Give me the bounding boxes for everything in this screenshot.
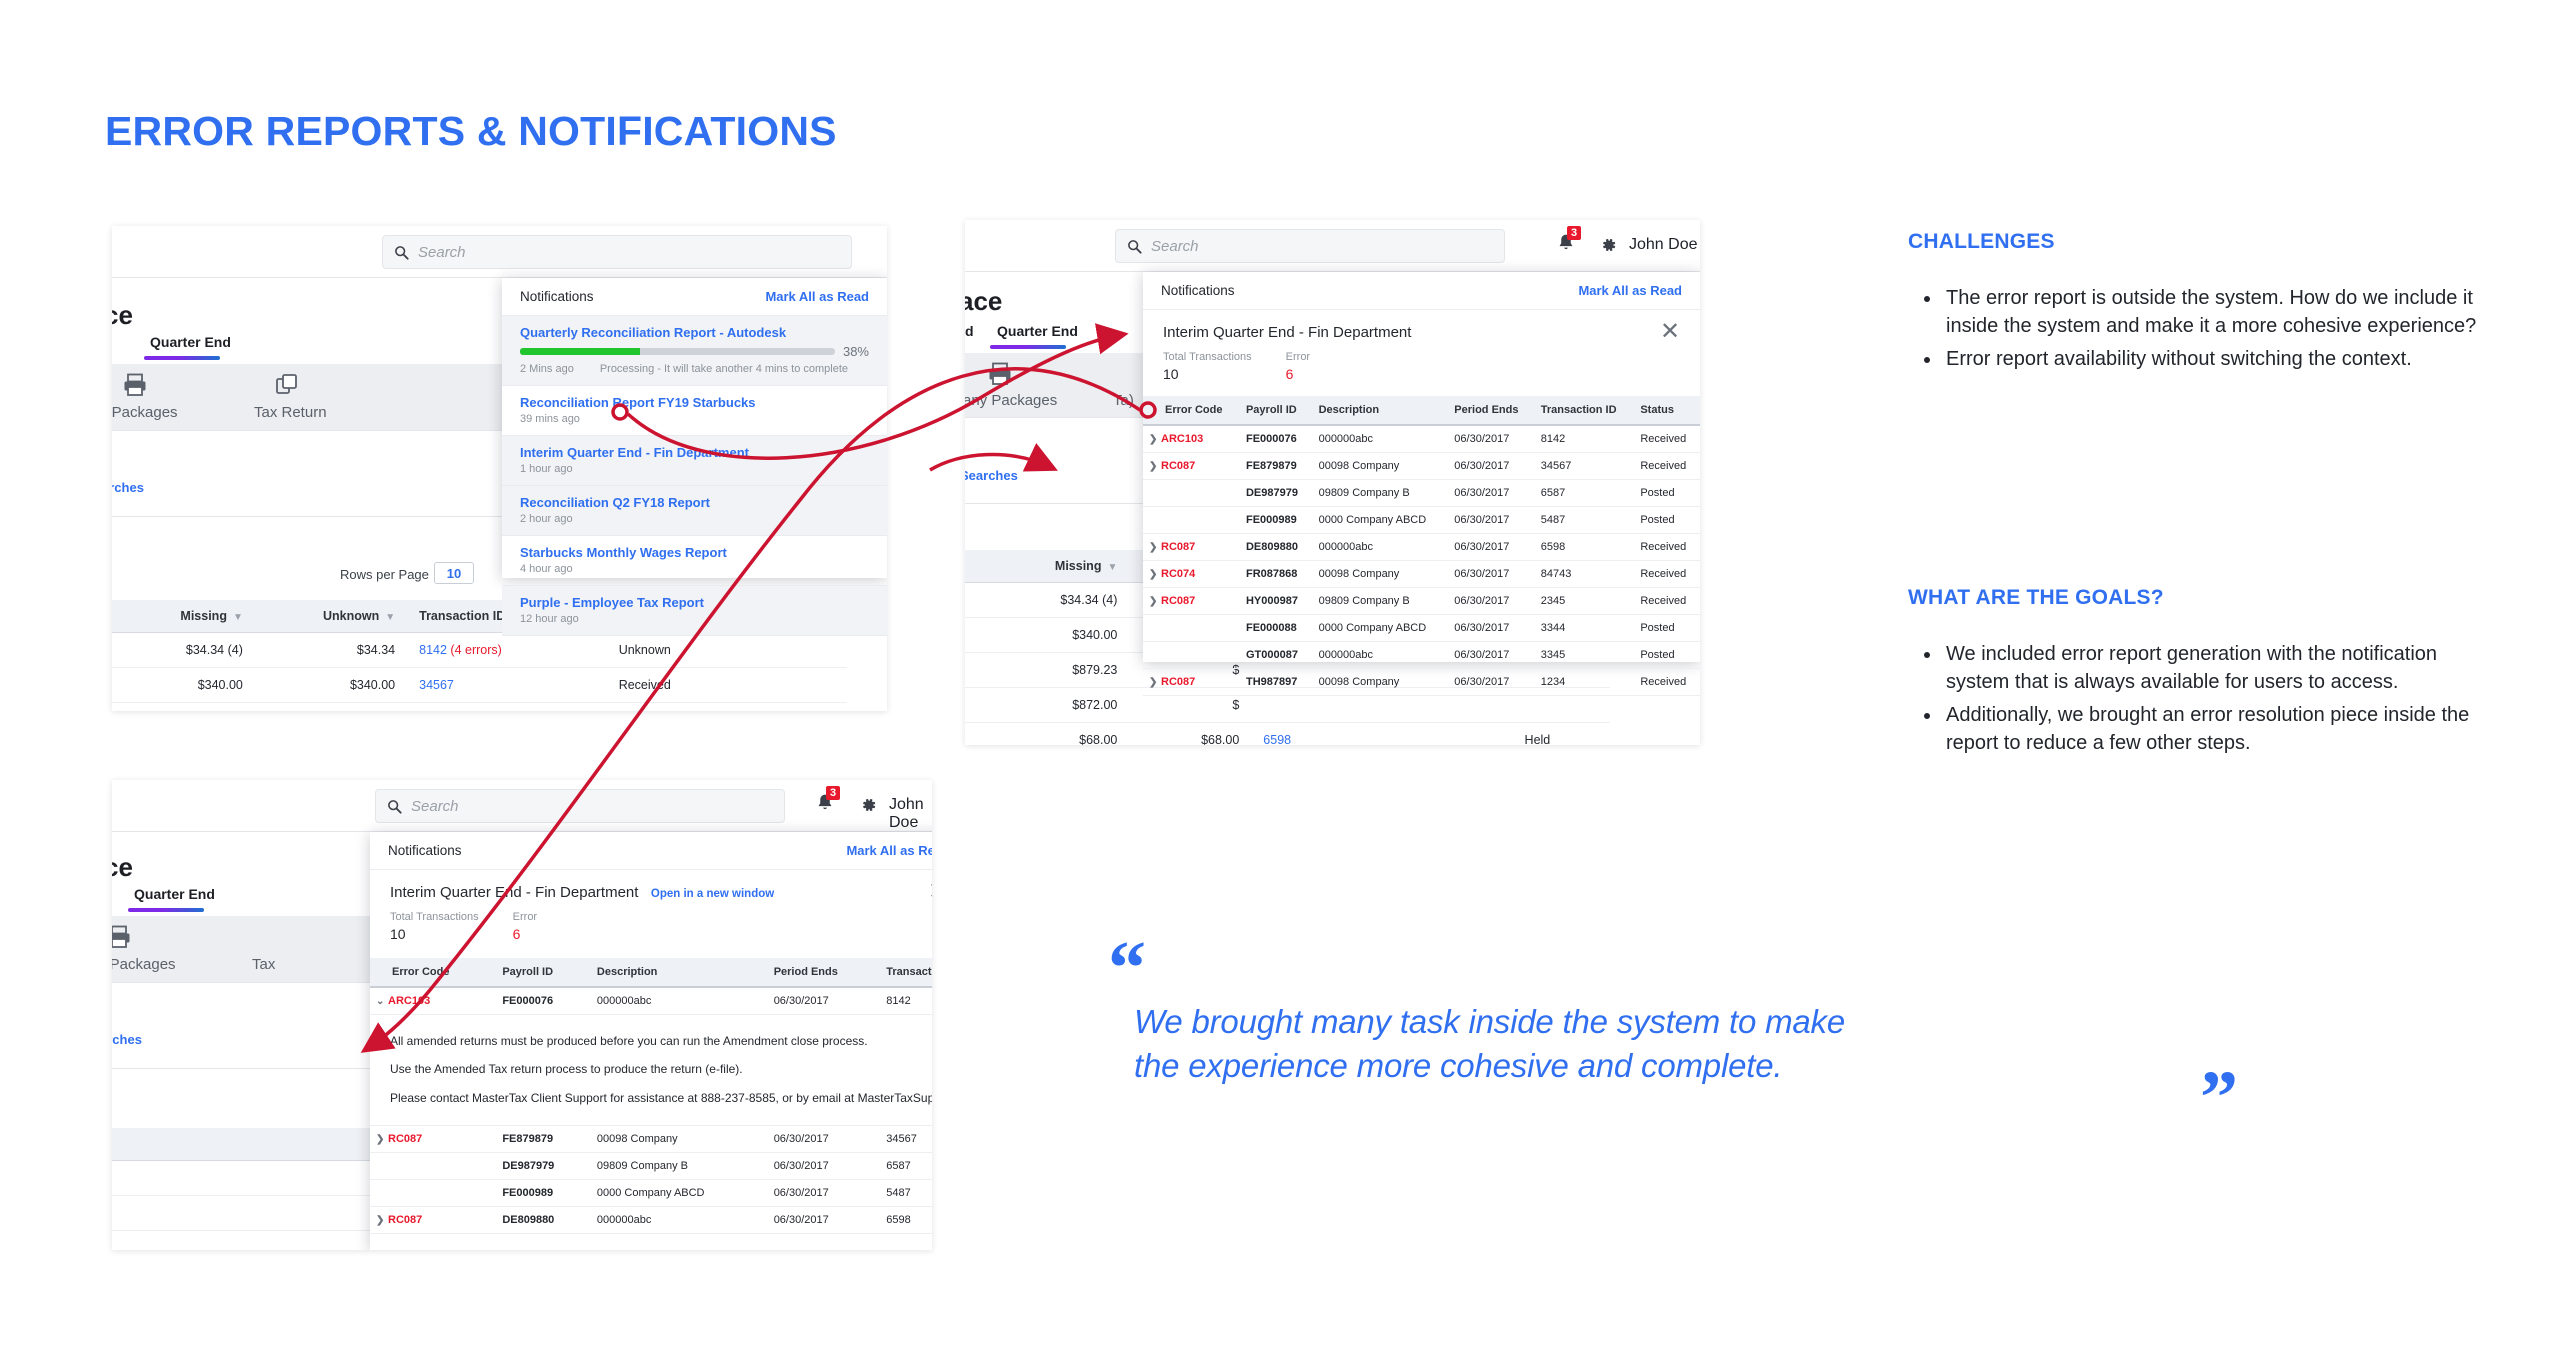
cell-payroll-id: FE000076 <box>1240 425 1313 453</box>
cell-payroll-id: DE987979 <box>496 1153 591 1180</box>
table-row[interactable]: ❯RC074 FR087868 00098 Company 06/30/2017… <box>1143 561 1700 588</box>
cell-error-code <box>1143 615 1240 642</box>
notification-item[interactable]: Starbucks Monthly Wages Report 4 hour ag… <box>502 536 887 586</box>
cell-status: Received <box>1634 534 1700 561</box>
table-row[interactable]: ❯ARC103 FE000076 000000abc 06/30/2017 81… <box>1143 425 1700 453</box>
stat-error: Error 6 <box>1286 351 1310 382</box>
tab-quarter-end[interactable]: Quarter End <box>150 334 231 350</box>
stat-value: 6 <box>1286 366 1310 382</box>
cell-payroll-id: FE879879 <box>496 1126 591 1153</box>
col-unknown[interactable]: Unknown▼ <box>255 600 407 633</box>
cell-payroll-id: FE000989 <box>1240 507 1313 534</box>
col-description: Description <box>591 958 768 987</box>
screenshot-error-report-panel: Search 3 John Doe ace d Quarter End <box>965 220 1700 745</box>
cell-period-ends: 06/30/2017 <box>768 1153 881 1180</box>
cell-error-code <box>1143 642 1240 669</box>
cell-status: Received <box>1634 669 1700 696</box>
cell-missing: $340.00 <box>965 618 1129 653</box>
table-row[interactable]: FE000088 0000 Company ABCD 06/30/2017 33… <box>1143 615 1700 642</box>
cell-transaction-id: 8142 <box>880 987 932 1015</box>
cell-error-code[interactable]: ⌄ARC103 <box>370 987 496 1015</box>
col-error-code: Error Code <box>1143 396 1240 425</box>
cell-status: Received <box>1634 561 1700 588</box>
cell-transaction-id: 34567 <box>880 1126 932 1153</box>
table-row[interactable]: $340.00 $340.00 34567 Received <box>112 668 847 703</box>
notification-title[interactable]: Reconciliation Report FY19 Starbucks <box>520 395 869 410</box>
progress-fill <box>520 348 640 355</box>
table-row[interactable]: ❯RC087 TH987897 00098 Company 06/30/2017… <box>1143 669 1700 696</box>
table-row[interactable]: FE000989 0000 Company ABCD 06/30/2017 54… <box>370 1180 932 1207</box>
search-icon <box>387 799 402 814</box>
error-report-header: Interim Quarter End - Fin Department Ope… <box>370 870 932 942</box>
tile-label-tax-return[interactable]: Tax Return <box>254 404 327 421</box>
error-report-body: ❯ARC103 FE000076 000000abc 06/30/2017 81… <box>1143 425 1700 696</box>
cell-status: Posted <box>1634 642 1700 669</box>
cell-payroll-id: DE809880 <box>496 1207 591 1234</box>
tile-label-packages[interactable]: y Packages <box>112 404 178 421</box>
error-report-dropdown: Notifications Mark All as Read Interim Q… <box>1143 272 1700 662</box>
detail-line-3: Please contact MasterTax Client Support … <box>376 1090 932 1107</box>
chevron-right-icon[interactable]: ❯ <box>1149 542 1161 553</box>
printer-icon[interactable] <box>987 361 1013 387</box>
cell-description: 0000 Company ABCD <box>591 1180 768 1207</box>
cell-payroll-id: GT000087 <box>1240 642 1313 669</box>
col-missing[interactable]: Missing▼ <box>118 600 255 633</box>
cell-error-code[interactable]: ❯RC087 <box>1143 453 1240 480</box>
progress-percent: 38% <box>843 344 869 359</box>
cell-error-code[interactable]: ❯RC087 <box>1143 534 1240 561</box>
cell-description: 000000abc <box>1313 425 1449 453</box>
tab-active-underline <box>128 908 204 912</box>
notifications-dropdown: Notifications Mark All as Read Quarterly… <box>502 278 887 578</box>
table-row[interactable]: DE987979 09809 Company B 06/30/2017 6587… <box>1143 480 1700 507</box>
cell-missing: $34.34 (4) <box>965 583 1129 618</box>
stat-total-transactions: Total Transactions 10 <box>390 911 479 942</box>
rows-per-page-label: Rows per Page <box>340 567 429 582</box>
cell-description: 000000abc <box>1313 534 1449 561</box>
cell-description: 000000abc <box>1313 642 1449 669</box>
saved-searches-link[interactable]: arches <box>112 1032 142 1047</box>
cell-payroll-id: FR087868 <box>1240 561 1313 588</box>
challenges-heading: CHALLENGES <box>1908 230 2055 254</box>
notification-title[interactable]: Interim Quarter End - Fin Department <box>520 445 869 460</box>
cell-description: 09809 Company B <box>1313 480 1449 507</box>
table-row[interactable]: ❯RC087 FE879879 00098 Company 06/30/2017… <box>1143 453 1700 480</box>
cell-unknown: $34.34 <box>255 633 407 668</box>
error-report-table-expanded: Error Code Payroll ID Description Period… <box>370 958 932 1234</box>
col-period-ends: Period Ends <box>1448 396 1534 425</box>
notifications-dropdown-header: Notifications Mark All as Read <box>370 832 932 870</box>
quote-text: We brought many task inside the system t… <box>1134 1000 2314 1088</box>
notifications-title: Notifications <box>1161 283 1235 298</box>
cell-transaction-id: 6598 <box>1535 534 1635 561</box>
stat-value: 6 <box>513 926 537 942</box>
tab-quarter-end[interactable]: Quarter End <box>134 886 215 902</box>
notifications-title: Notifications <box>520 289 594 304</box>
quote-close-mark: ” <box>2200 1060 2238 1136</box>
col-status: Status <box>1634 396 1700 425</box>
notification-item[interactable]: Interim Quarter End - Fin Department 1 h… <box>502 436 887 486</box>
cell-transaction-id: 2345 <box>1535 588 1635 615</box>
cell-payroll-id: TH987897 <box>1240 669 1313 696</box>
cell-transaction-id: 5487 <box>880 1180 932 1207</box>
cell-transaction-id: 3344 <box>1535 615 1635 642</box>
list-item: Additionally, we brought an error resolu… <box>1942 701 2480 758</box>
cell-transaction-id: 84743 <box>1535 561 1635 588</box>
notification-title[interactable]: Quarterly Reconciliation Report - Autode… <box>520 325 869 340</box>
cell-error-code <box>1143 507 1240 534</box>
error-report-stats: Total Transactions 10 Error 6 <box>390 911 932 942</box>
cell-error-code[interactable]: ❯RC087 <box>370 1207 496 1234</box>
tab-active-underline <box>144 356 220 360</box>
chevron-right-icon[interactable]: ❯ <box>376 1134 388 1145</box>
cell-status: Received <box>607 668 847 703</box>
cell-period-ends: 06/30/2017 <box>1448 588 1534 615</box>
stat-label: Error <box>513 911 537 923</box>
cell-missing: $68.00 <box>965 723 1129 746</box>
notifications-title: Notifications <box>388 843 462 858</box>
close-icon[interactable]: ✕ <box>1660 322 1682 344</box>
mark-all-as-read-link[interactable]: Mark All as Read <box>1578 283 1682 298</box>
tab-quarter-end[interactable]: Quarter End <box>997 323 1078 339</box>
cell-error-code <box>370 1180 496 1207</box>
cell-payroll-id: HY000987 <box>1240 588 1313 615</box>
notification-time: 12 hour ago <box>520 613 869 625</box>
stat-value: 10 <box>1163 366 1252 382</box>
close-icon[interactable]: ✕ <box>928 882 932 904</box>
table-row[interactable]: ❯RC087 FE879879 00098 Company 06/30/2017… <box>370 1126 932 1153</box>
cell-period-ends: 06/30/2017 <box>1448 534 1534 561</box>
screenshot-error-report-expanded: Search 3 John Doe ce Quarter End <box>112 780 932 1250</box>
notification-time: 1 hour ago <box>520 463 869 475</box>
table-row[interactable]: 0 $68.00 $68.00 6598 Held <box>965 723 1610 746</box>
list-item: The error report is outside the system. … <box>1942 284 2480 341</box>
detail-line-1: All amended returns must be produced bef… <box>376 1033 932 1050</box>
search-placeholder: Search <box>1151 238 1199 255</box>
cell-unknown: $879.23 <box>255 703 407 712</box>
cell-period-ends: 06/30/2017 <box>768 1207 881 1234</box>
col-missing[interactable]: Missing▼ <box>965 550 1129 583</box>
cell-error-code <box>370 1153 496 1180</box>
printer-icon[interactable] <box>122 372 148 398</box>
table-row[interactable]: ❯RC087 DE809880 000000abc 06/30/2017 659… <box>1143 534 1700 561</box>
cell-status: Posted <box>1634 507 1700 534</box>
quote-open-mark: “ <box>1108 930 1146 1006</box>
cell-payroll-id: DE809880 <box>1240 534 1313 561</box>
cell-period-ends: 06/30/2017 <box>1448 425 1534 453</box>
notification-item[interactable]: Reconciliation Report FY19 Starbucks 39 … <box>502 386 887 436</box>
chevron-right-icon[interactable]: ❯ <box>1149 569 1161 580</box>
cell-period-ends: 06/30/2017 <box>1448 669 1534 696</box>
cell-error-code[interactable]: ❯RC074 <box>1143 561 1240 588</box>
cell-error-code <box>1143 480 1240 507</box>
cell-transaction-id: 6587 <box>1535 480 1635 507</box>
quote-line-1: We brought many task inside the system t… <box>1134 1003 1845 1040</box>
notification-title[interactable]: Purple - Employee Tax Report <box>520 595 869 610</box>
tile-label-tax-return[interactable]: Ta) <box>1113 392 1134 409</box>
search-input[interactable]: Search <box>382 235 852 269</box>
col-transaction-id: Transaction ID <box>880 958 932 987</box>
cell-missing: $340.00 <box>118 668 255 703</box>
list-item: Error report availability without switch… <box>1942 345 2480 373</box>
rows-per-page-select[interactable]: 10 <box>434 562 474 584</box>
error-report-header: Interim Quarter End - Fin Department ✕ T… <box>1143 310 1700 382</box>
cell-transaction-id[interactable]: 8142 (4 errors) <box>407 633 607 668</box>
cell-status: Received <box>1634 425 1700 453</box>
col-transaction-id: Transaction ID <box>1535 396 1635 425</box>
notification-title[interactable]: Starbucks Monthly Wages Report <box>520 545 869 560</box>
cell-description: 09809 Company B <box>1313 588 1449 615</box>
table-row[interactable]: $34.34 (4) $34.34 8142 (4 errors) Unknow… <box>112 633 847 668</box>
cell-status: Received <box>1634 588 1700 615</box>
chevron-right-icon[interactable]: ❯ <box>376 1215 388 1226</box>
cell-transaction-id: 6587 <box>880 1153 932 1180</box>
chevron-right-icon[interactable]: ❯ <box>1149 461 1161 472</box>
table-row[interactable]: ❯RC087 HY000987 09809 Company B 06/30/20… <box>1143 588 1700 615</box>
table-header-row: Error Code Payroll ID Description Period… <box>370 958 932 987</box>
col-period-ends: Period Ends <box>768 958 881 987</box>
tile-label-packages[interactable]: y Packages <box>112 956 176 973</box>
cell-payroll-id: FE000989 <box>496 1180 591 1207</box>
search-placeholder: Search <box>418 244 466 261</box>
cell-transaction-id: 8142 <box>1535 425 1635 453</box>
cell-transaction-id: 1234 <box>1535 669 1635 696</box>
chevron-right-icon[interactable]: ❯ <box>1149 596 1161 607</box>
workspace-title-partial: ce <box>112 852 133 883</box>
filter-icon[interactable]: ▼ <box>233 612 243 623</box>
table-row[interactable]: DE987979 09809 Company B 06/30/2017 6587… <box>370 1153 932 1180</box>
app-top-bar: Search 3 John Doe <box>112 226 887 278</box>
cell-period-ends: 06/30/2017 <box>768 1126 881 1153</box>
cell-description: 00098 Company <box>1313 561 1449 588</box>
open-in-new-window-link[interactable]: Open in a new window <box>651 888 774 900</box>
col-description: Description <box>1313 396 1449 425</box>
table-row[interactable]: GT000087 000000abc 06/30/2017 3345 Poste… <box>1143 642 1700 669</box>
mark-all-as-read-link[interactable]: Mark All as Read <box>765 289 869 304</box>
cell-transaction-id[interactable]: 34567 <box>407 668 607 703</box>
error-report-table: Error Code Payroll ID Description Period… <box>1143 396 1700 696</box>
cell-payroll-id: DE987979 <box>1240 480 1313 507</box>
cell-period-ends: 06/30/2017 <box>1448 615 1534 642</box>
error-report-stats: Total Transactions 10 Error 6 <box>1163 351 1680 382</box>
filter-icon[interactable]: ▼ <box>385 612 395 623</box>
stat-value: 10 <box>390 926 479 942</box>
cell-period-ends: 06/30/2017 <box>1448 561 1534 588</box>
gear-icon[interactable] <box>1598 235 1618 255</box>
cell-transaction-id[interactable]: 6587 (4 errors) <box>407 703 607 712</box>
saved-searches-link[interactable]: Searches <box>965 468 1018 483</box>
cell-description: 000000abc <box>591 1207 768 1234</box>
error-report-title: Interim Quarter End - Fin Department <box>390 884 638 901</box>
error-report-title: Interim Quarter End - Fin Department <box>1163 324 1411 341</box>
table-row[interactable]: $879.23 $879.23 6587 (4 errors) Unknown <box>112 703 847 712</box>
table-row[interactable]: FE000989 0000 Company ABCD 06/30/2017 54… <box>1143 507 1700 534</box>
cell-period-ends: 06/30/2017 <box>768 987 881 1015</box>
cell-transaction-id: 34567 <box>1535 453 1635 480</box>
cell-status: Received <box>1634 453 1700 480</box>
printer-icon[interactable] <box>112 924 132 950</box>
app-top-bar: Search 3 John Doe <box>965 220 1700 272</box>
stat-error: Error 6 <box>513 911 537 942</box>
chevron-right-icon[interactable]: ❯ <box>1149 434 1161 445</box>
gear-icon[interactable] <box>858 795 878 815</box>
cell-missing: $879.23 <box>118 703 255 712</box>
copy-pages-icon[interactable] <box>274 372 300 398</box>
cell-transaction-id: 3345 <box>1535 642 1635 669</box>
stat-total-transactions: Total Transactions 10 <box>1163 351 1252 382</box>
search-input[interactable]: Search <box>1115 229 1505 263</box>
filter-icon[interactable]: ▼ <box>1107 562 1117 573</box>
notification-status: Processing - It will take another 4 mins… <box>600 363 848 375</box>
notification-item[interactable]: Quarterly Reconciliation Report - Autode… <box>502 316 887 386</box>
row-detail-cell: All amended returns must be produced bef… <box>370 1015 932 1126</box>
cell-description: 00098 Company <box>1313 669 1449 696</box>
cell-period-ends: 06/30/2017 <box>1448 642 1534 669</box>
col-payroll-id: Payroll ID <box>496 958 591 987</box>
cell-period-ends: 06/30/2017 <box>1448 507 1534 534</box>
workspace-title-partial: ce <box>112 300 133 331</box>
goals-heading: WHAT ARE THE GOALS? <box>1908 586 2164 610</box>
notifications-bell-button[interactable]: 3 <box>814 792 840 818</box>
search-input[interactable]: Search <box>375 789 785 823</box>
table-row[interactable]: ❯RC087 DE809880 000000abc 06/30/2017 659… <box>370 1207 932 1234</box>
search-icon <box>1127 239 1142 254</box>
notification-time: 2 hour ago <box>520 513 869 525</box>
user-name[interactable]: John Doe <box>889 796 932 832</box>
search-placeholder: Search <box>411 798 459 815</box>
row-detail-panel: All amended returns must be produced bef… <box>370 1015 932 1126</box>
notification-item[interactable]: Purple - Employee Tax Report 12 hour ago <box>502 586 887 636</box>
workspace-title-partial: ace <box>965 286 1002 317</box>
tab-prefix: d <box>965 323 974 339</box>
mark-all-as-read-link[interactable]: Mark All as Read <box>846 843 932 858</box>
cell-missing: $879.23 <box>965 653 1129 688</box>
page-title: ERROR REPORTS & NOTIFICATIONS <box>105 108 837 155</box>
cell-period-ends: 06/30/2017 <box>768 1180 881 1207</box>
notifications-dropdown-header: Notifications Mark All as Read <box>1143 272 1700 310</box>
notification-title[interactable]: Reconciliation Q2 FY18 Report <box>520 495 869 510</box>
tile-label-packages[interactable]: any Packages <box>965 392 1057 409</box>
cell-description: 00098 Company <box>591 1126 768 1153</box>
cell-description: 000000abc <box>591 987 768 1015</box>
cell-error-code[interactable]: ❯RC087 <box>370 1126 496 1153</box>
cell-unknown: $340.00 <box>255 668 407 703</box>
slide-canvas: ERROR REPORTS & NOTIFICATIONS Search 3 <box>0 0 2560 1352</box>
error-report-body: ⌄ARC103 FE000076 000000abc 06/30/2017 81… <box>370 987 932 1234</box>
notification-time: 39 mins ago <box>520 413 869 425</box>
cell-description: 0000 Company ABCD <box>1313 507 1449 534</box>
cell-error-code[interactable]: ❯RC087 <box>1143 669 1240 696</box>
list-item: We included error report generation with… <box>1942 640 2480 697</box>
cell-status: Posted <box>1634 480 1700 507</box>
cell-payroll-id: FE000088 <box>1240 615 1313 642</box>
notification-progress: 38% <box>520 344 869 359</box>
notification-count-badge: 3 <box>1567 226 1581 240</box>
screenshot-notifications-list: Search 3 John Doe ce Quarter End <box>112 226 887 711</box>
app-top-bar: Search 3 John Doe <box>112 780 932 832</box>
cell-payroll-id: FE879879 <box>1240 453 1313 480</box>
notification-count-badge: 3 <box>826 786 840 800</box>
cell-transaction-id[interactable]: 6598 <box>1251 723 1512 746</box>
table-header-row: Error Code Payroll ID Description Period… <box>1143 396 1700 425</box>
chevron-down-icon[interactable]: ⌄ <box>376 996 388 1007</box>
detail-line-2: Use the Amended Tax return process to pr… <box>376 1061 932 1078</box>
search-icon <box>394 245 409 260</box>
notification-time: 4 hour ago <box>520 563 869 575</box>
progress-track <box>520 348 835 355</box>
cell-description: 0000 Company ABCD <box>1313 615 1449 642</box>
notification-time: 2 Mins ago <box>520 363 574 375</box>
quote-line-2: the experience more cohesive and complet… <box>1134 1047 1782 1084</box>
saved-searches-link[interactable]: arches <box>112 480 144 495</box>
tile-label-tax-return[interactable]: Tax <box>252 956 275 973</box>
cell-transaction-id: 6598 <box>880 1207 932 1234</box>
cell-payroll-id: FE000076 <box>496 987 591 1015</box>
cell-unknown: $68.00 <box>1129 723 1251 746</box>
col-error-code: Error Code <box>370 958 496 987</box>
challenges-list: The error report is outside the system. … <box>1920 284 2480 377</box>
cell-period-ends: 06/30/2017 <box>1448 480 1534 507</box>
cell-error-code[interactable]: ❯ARC103 <box>1143 425 1240 453</box>
notifications-bell-button[interactable]: 3 <box>1555 232 1581 258</box>
cell-missing: $872.00 <box>965 688 1129 723</box>
tab-active-underline <box>990 345 1066 349</box>
error-report-dropdown-expanded: Notifications Mark All as Read Interim Q… <box>370 832 932 1250</box>
stat-label: Total Transactions <box>1163 351 1252 363</box>
cell-description: 09809 Company B <box>591 1153 768 1180</box>
cell-error-code[interactable]: ❯RC087 <box>1143 588 1240 615</box>
user-name[interactable]: John Doe <box>1629 236 1698 254</box>
chevron-right-icon[interactable]: ❯ <box>1149 677 1161 688</box>
stat-label: Error <box>1286 351 1310 363</box>
cell-transaction-id: 5487 <box>1535 507 1635 534</box>
table-row-expanded[interactable]: ⌄ARC103 FE000076 000000abc 06/30/2017 81… <box>370 987 932 1015</box>
goals-list: We included error report generation with… <box>1920 640 2480 762</box>
cell-status: Held <box>1513 723 1610 746</box>
col-payroll-id: Payroll ID <box>1240 396 1313 425</box>
cell-status: Posted <box>1634 615 1700 642</box>
cell-status: Unknown <box>607 633 847 668</box>
cell-missing: $34.34 (4) <box>118 633 255 668</box>
cell-description: 00098 Company <box>1313 453 1449 480</box>
notifications-dropdown-header: Notifications Mark All as Read <box>502 278 887 316</box>
cell-period-ends: 06/30/2017 <box>1448 453 1534 480</box>
cell-status: Unknown <box>607 703 847 712</box>
notification-item[interactable]: Reconciliation Q2 FY18 Report 2 hour ago <box>502 486 887 536</box>
stat-label: Total Transactions <box>390 911 479 923</box>
